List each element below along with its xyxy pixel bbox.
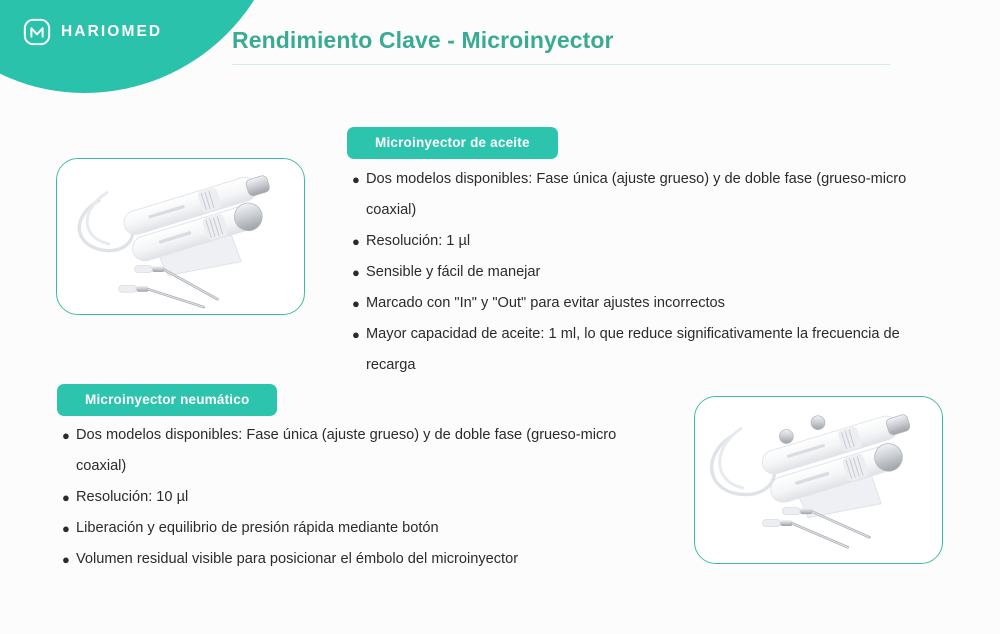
list-item-text: Mayor capacidad de aceite: 1 ml, lo que … [366, 326, 900, 373]
section-badge-pneumatic-wrap: Microinyector neumático [57, 384, 334, 416]
product-image-oil [56, 158, 305, 315]
list-item-text: Dos modelos disponibles: Fase única (aju… [76, 427, 616, 474]
list-item: ● Volumen residual visible para posicion… [62, 544, 622, 575]
hexagon-monogram-icon [22, 17, 52, 47]
list-item: ● Liberación y equilibrio de presión ráp… [62, 513, 622, 544]
brand-name: HARIOMED [61, 23, 162, 41]
list-item: ● Dos modelos disponibles: Fase única (a… [352, 164, 918, 226]
list-item: ● Resolución: 10 µl [62, 482, 622, 513]
section-badge-oil: Microinyector de aceite [347, 127, 558, 159]
bullet-dot-icon: ● [352, 319, 360, 350]
list-item: ● Resolución: 1 µl [352, 226, 918, 257]
list-item: ● Marcado con "In" y "Out" para evitar a… [352, 288, 918, 319]
list-item-text: Marcado con "In" y "Out" para evitar aju… [366, 295, 725, 311]
list-item: ● Dos modelos disponibles: Fase única (a… [62, 420, 622, 482]
bullet-dot-icon: ● [62, 420, 70, 451]
list-item: ● Sensible y fácil de manejar [352, 257, 918, 288]
section-badge-pneumatic: Microinyector neumático [57, 384, 277, 416]
bullet-dot-icon: ● [352, 164, 360, 195]
feature-list-pneumatic: ● Dos modelos disponibles: Fase única (a… [62, 420, 622, 575]
bullet-dot-icon: ● [62, 482, 70, 513]
feature-list-oil: ● Dos modelos disponibles: Fase única (a… [352, 164, 918, 381]
bullet-dot-icon: ● [62, 513, 70, 544]
list-item-text: Dos modelos disponibles: Fase única (aju… [366, 171, 906, 218]
list-item: ● Mayor capacidad de aceite: 1 ml, lo qu… [352, 319, 918, 381]
list-item-text: Resolución: 1 µl [366, 233, 470, 249]
list-item-text: Volumen residual visible para posicionar… [76, 551, 518, 567]
bullet-dot-icon: ● [352, 257, 360, 288]
list-item-text: Sensible y fácil de manejar [366, 264, 540, 280]
list-item-text: Liberación y equilibrio de presión rápid… [76, 520, 439, 536]
product-image-pneumatic [694, 396, 943, 564]
bullet-dot-icon: ● [352, 226, 360, 257]
slide-canvas: HARIOMED HARIOMED Rendimiento Clave - Mi… [0, 0, 1000, 634]
page-title: Rendimiento Clave - Microinyector [232, 27, 614, 54]
bullet-dot-icon: ● [352, 288, 360, 319]
brand-logo: HARIOMED [22, 17, 162, 47]
bullet-dot-icon: ● [62, 544, 70, 575]
list-item-text: Resolución: 10 µl [76, 489, 188, 505]
title-divider [232, 64, 890, 65]
section-badge-oil-wrap: Microinyector de aceite [347, 127, 623, 159]
